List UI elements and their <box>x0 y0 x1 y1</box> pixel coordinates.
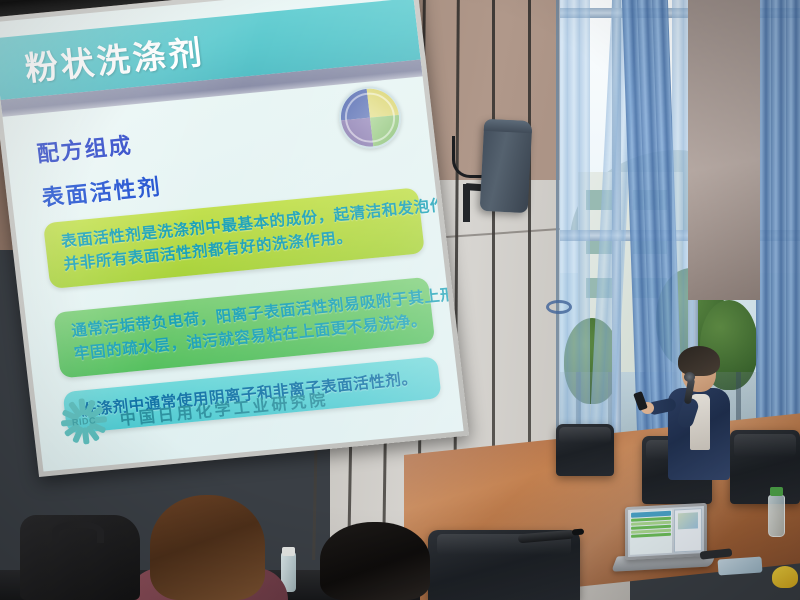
audience-member-1 <box>150 495 265 600</box>
backpack <box>20 515 140 600</box>
yellow-object <box>772 566 798 588</box>
wall-panel-seam <box>492 0 495 505</box>
backpack-strap <box>52 521 104 543</box>
four-quadrant-circular-emblem-icon <box>336 84 405 152</box>
chair <box>730 430 800 504</box>
organization-name: 中国日用化学工业研究院 <box>118 386 329 430</box>
conference-room-scene: 粉状洗涤剂 配方组成 表面活性剂 表面活性剂是洗涤剂中最基本的成份，起清洁和发泡… <box>0 0 800 600</box>
projection-screen: 粉状洗涤剂 配方组成 表面活性剂 表面活性剂是洗涤剂中最基本的成份，起清洁和发泡… <box>0 0 471 493</box>
laptop-slide-pane <box>630 510 672 555</box>
curtain-panel-right <box>756 0 800 473</box>
presenter-body <box>668 388 730 480</box>
laptop-preview-pane <box>674 508 702 553</box>
presenter-hair <box>678 346 720 376</box>
bottle-cap-foreground <box>282 547 295 556</box>
ridc-logo-icon: RIDC <box>57 395 110 447</box>
water-bottle <box>768 495 785 537</box>
microphone-head-icon <box>684 372 695 382</box>
chair-foreground <box>428 530 580 600</box>
slide-subheading-2: 表面活性剂 <box>40 169 163 212</box>
laptop-screen[interactable] <box>628 506 704 557</box>
presentation-slide: 粉状洗涤剂 配方组成 表面活性剂 表面活性剂是洗涤剂中最基本的成份，起清洁和发泡… <box>0 0 464 471</box>
wall-speaker <box>480 119 533 213</box>
curtain-tieback <box>546 300 572 314</box>
speaker-top <box>484 119 533 133</box>
desk-accessory <box>717 556 762 575</box>
audience-member-2 <box>320 522 430 600</box>
screen-frame: 粉状洗涤剂 配方组成 表面活性剂 表面活性剂是洗涤剂中最基本的成份，起清洁和发泡… <box>0 0 469 477</box>
pillar <box>688 0 760 300</box>
wall-panel-seam <box>528 0 531 495</box>
table-microphone-tip <box>572 528 584 535</box>
bottle-cap <box>770 487 783 496</box>
laptop[interactable] <box>625 503 707 560</box>
slide-subheading-1: 配方组成 <box>35 128 134 169</box>
sheer-curtain-left <box>556 0 590 469</box>
chair <box>556 424 614 476</box>
